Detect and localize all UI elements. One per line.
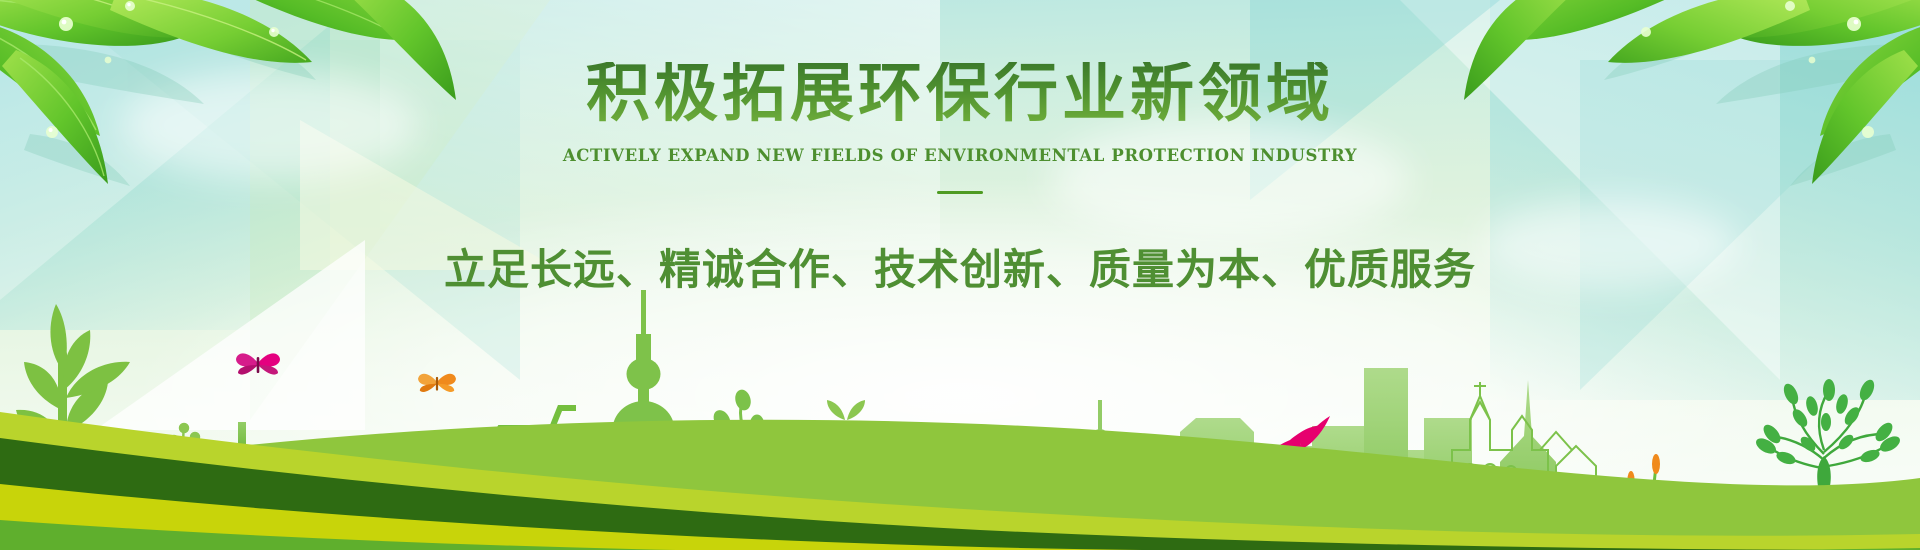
divider — [937, 191, 983, 194]
eco-banner: 积极拓展环保行业新领域 ACTIVELY EXPAND NEW FIELDS O… — [0, 0, 1920, 550]
butterfly-icon — [418, 374, 456, 392]
butterfly-icon — [236, 353, 280, 374]
leaf-sprout-icon — [827, 400, 865, 420]
leaf-cluster-icon — [1460, 0, 1920, 214]
slogan: 立足长远、精诚合作、技术创新、质量为本、优质服务 — [0, 236, 1920, 297]
leaf-cluster-icon — [0, 0, 460, 214]
